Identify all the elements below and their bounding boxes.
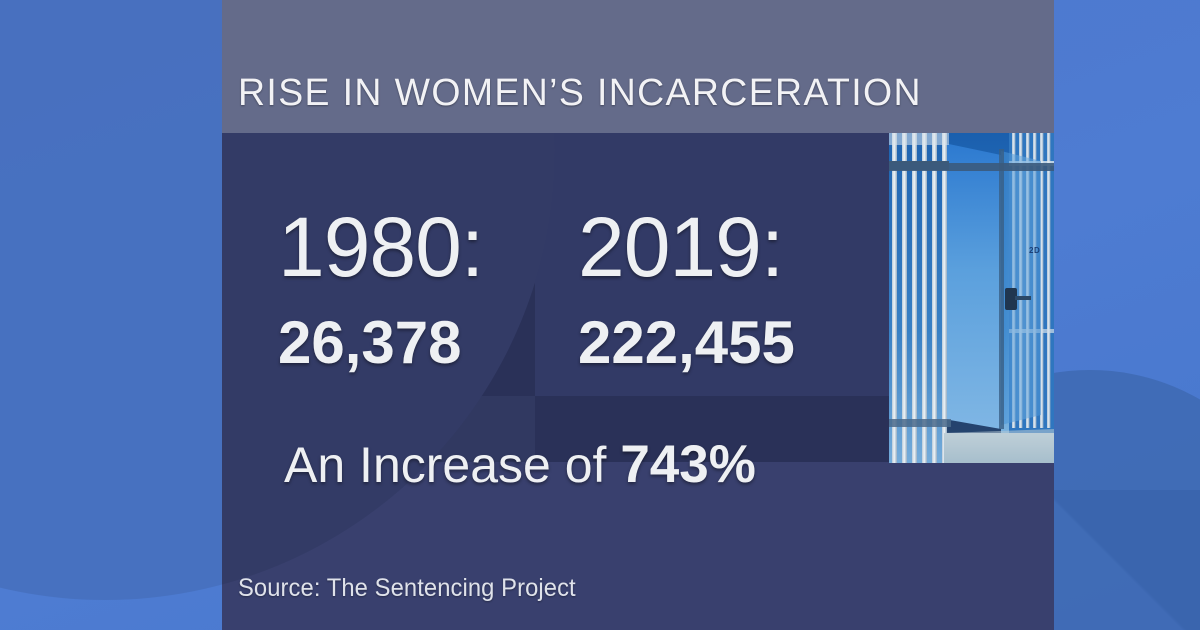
stat-year-label-2019: 2019: — [578, 205, 795, 289]
page-title: RISE IN WOMEN’S INCARCERATION — [238, 74, 922, 112]
cell-number-badge: 2D — [1029, 246, 1040, 255]
stat-value-1980: 26,378 — [278, 313, 483, 373]
increase-prefix-label: An Increase of — [284, 437, 620, 493]
stat-value-2019: 222,455 — [578, 313, 795, 373]
infographic-canvas: RISE IN WOMEN’S INCARCERATION 1980: 26,3… — [0, 0, 1200, 630]
prison-cell-photo: 2D — [889, 133, 1054, 463]
stat-column-1980: 1980: 26,378 — [278, 205, 483, 373]
increase-statement: An Increase of 743% — [284, 438, 756, 491]
stat-year-label-1980: 1980: — [278, 205, 483, 289]
source-attribution: Source: The Sentencing Project — [238, 576, 576, 601]
increase-percent-value: 743% — [620, 435, 756, 494]
stat-column-2019: 2019: 222,455 — [578, 205, 795, 373]
prison-cell-illustration — [889, 133, 1054, 463]
